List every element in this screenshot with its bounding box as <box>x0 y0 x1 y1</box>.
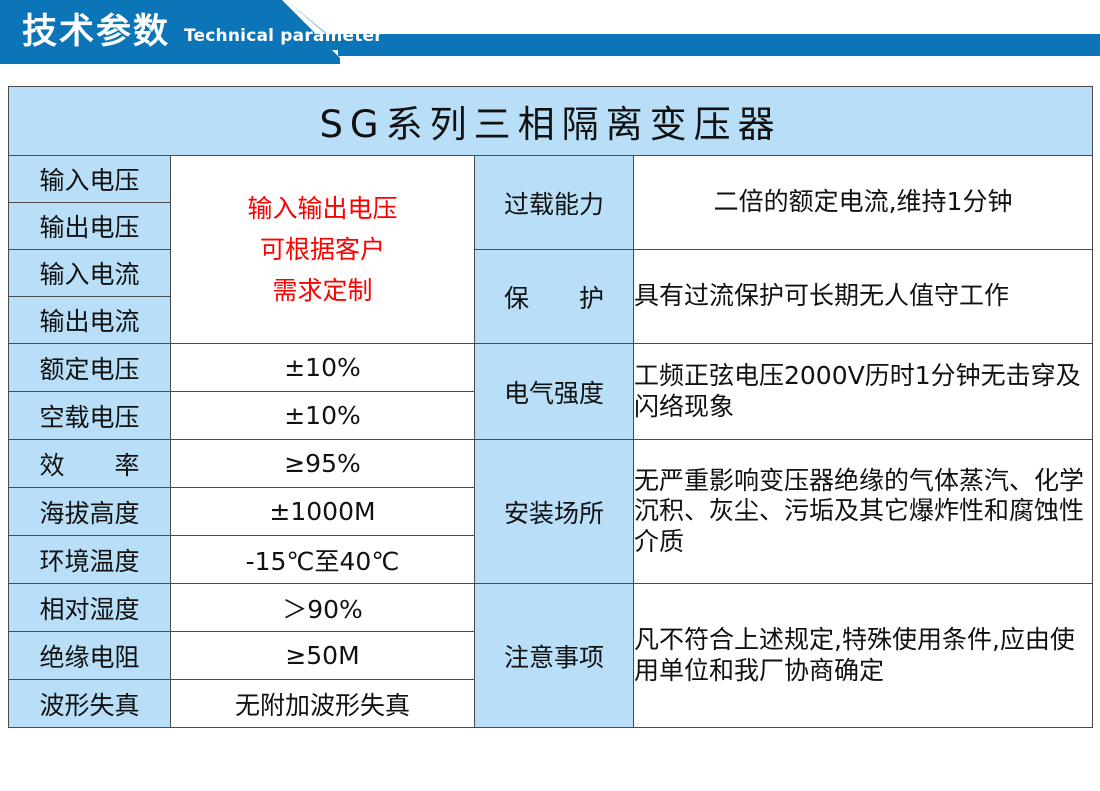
value-ambient-temperature: -15℃至40℃ <box>171 536 475 584</box>
label-relative-humidity: 相对湿度 <box>9 584 171 632</box>
value-efficiency: ≥95% <box>171 440 475 488</box>
label-notes: 注意事项 <box>475 584 634 728</box>
value-installation-site: 无严重影响变压器绝缘的气体蒸汽、化学沉积、灰尘、污垢及其它爆炸性和腐蚀性介质 <box>634 440 1093 584</box>
label-efficiency: 效 率 <box>9 440 171 488</box>
label-waveform-distortion: 波形失真 <box>9 680 171 728</box>
value-protection: 具有过流保护可长期无人值守工作 <box>634 250 1093 344</box>
label-protection: 保 护 <box>475 250 634 344</box>
page-header-banner: 技术参数 Technical parameter <box>0 0 1100 64</box>
table-row: 相对湿度 ＞90% 注意事项 凡不符合上述规定,特殊使用条件,应由使用单位和我厂… <box>9 584 1093 632</box>
table-title-row: SG系列三相隔离变压器 <box>9 87 1093 156</box>
label-insulation-resistance: 绝缘电阻 <box>9 632 171 680</box>
value-waveform-distortion: 无附加波形失真 <box>171 680 475 728</box>
technical-parameter-table: SG系列三相隔离变压器 输入电压 输入输出电压 可根据客户 需求定制 过载能力 … <box>8 86 1093 728</box>
value-insulation-resistance: ≥50M <box>171 632 475 680</box>
value-no-load-voltage: ±10% <box>171 392 475 440</box>
value-notes: 凡不符合上述规定,特殊使用条件,应由使用单位和我厂协商确定 <box>634 584 1093 728</box>
value-relative-humidity: ＞90% <box>171 584 475 632</box>
label-electrical-strength: 电气强度 <box>475 344 634 440</box>
value-electrical-strength: 工频正弦电压2000V历时1分钟无击穿及闪络现象 <box>634 344 1093 440</box>
label-ambient-temperature: 环境温度 <box>9 536 171 584</box>
label-installation-site: 安装场所 <box>475 440 634 584</box>
banner-text-group: 技术参数 Technical parameter <box>0 0 383 64</box>
customization-note-line-1: 输入输出电压 <box>171 188 474 229</box>
banner-title-en: Technical parameter <box>184 28 383 45</box>
customization-note-line-3: 需求定制 <box>171 270 474 311</box>
label-output-current: 输出电流 <box>9 297 171 344</box>
label-no-load-voltage: 空载电压 <box>9 392 171 440</box>
table-title: SG系列三相隔离变压器 <box>9 87 1093 156</box>
label-overload-capacity: 过载能力 <box>475 156 634 250</box>
customization-note-line-2: 可根据客户 <box>171 229 474 270</box>
label-input-current: 输入电流 <box>9 250 171 297</box>
banner-title-cn: 技术参数 <box>22 15 170 50</box>
label-input-voltage: 输入电压 <box>9 156 171 203</box>
label-altitude: 海拔高度 <box>9 488 171 536</box>
table-row: 输入电压 输入输出电压 可根据客户 需求定制 过载能力 二倍的额定电流,维持1分… <box>9 156 1093 203</box>
label-output-voltage: 输出电压 <box>9 203 171 250</box>
value-overload-capacity: 二倍的额定电流,维持1分钟 <box>634 156 1093 250</box>
table-row: 额定电压 ±10% 电气强度 工频正弦电压2000V历时1分钟无击穿及闪络现象 <box>9 344 1093 392</box>
table-row: 效 率 ≥95% 安装场所 无严重影响变压器绝缘的气体蒸汽、化学沉积、灰尘、污垢… <box>9 440 1093 488</box>
value-altitude: ±1000M <box>171 488 475 536</box>
label-rated-voltage: 额定电压 <box>9 344 171 392</box>
customization-note-cell: 输入输出电压 可根据客户 需求定制 <box>171 156 475 344</box>
value-rated-voltage: ±10% <box>171 344 475 392</box>
